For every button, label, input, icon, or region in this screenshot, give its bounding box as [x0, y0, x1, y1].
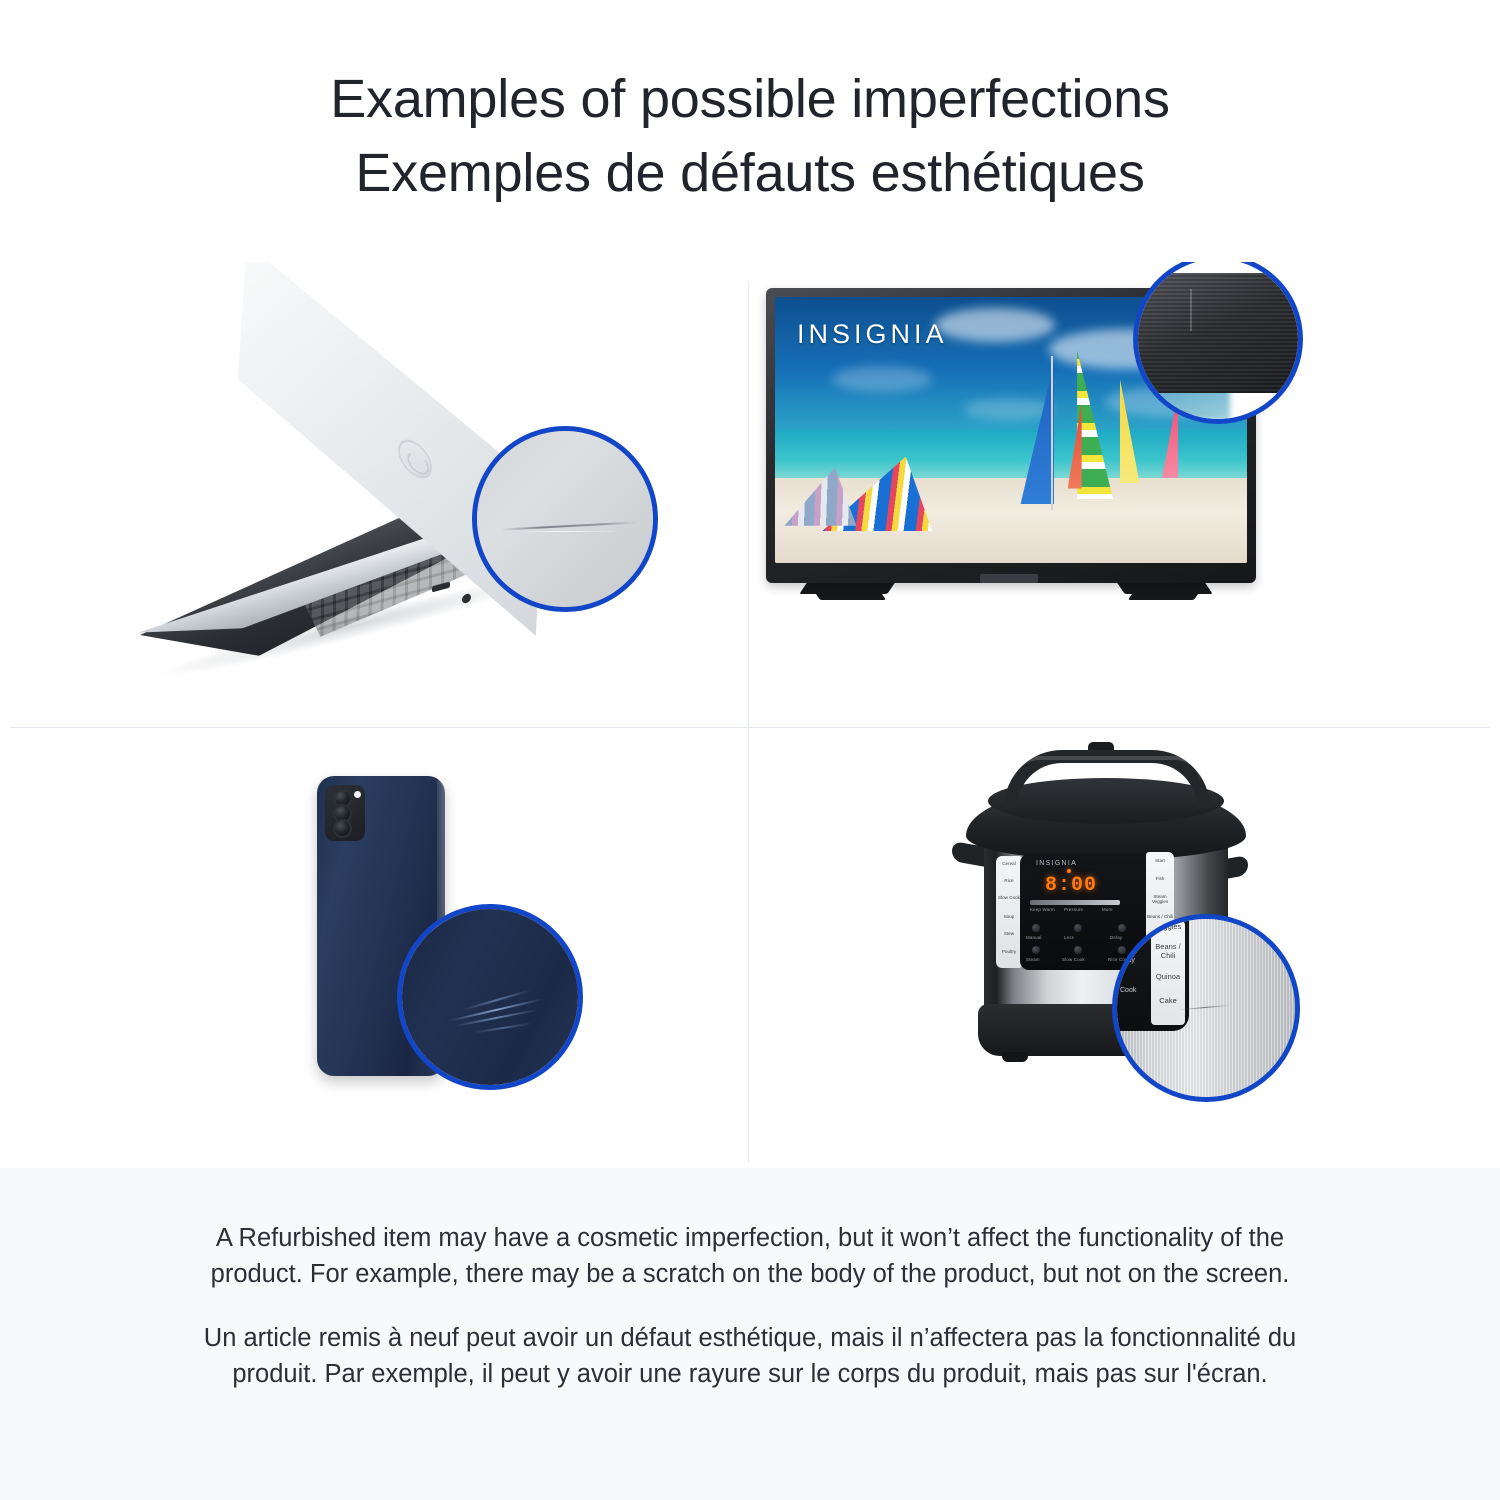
magnifier-circle-television: [1133, 262, 1303, 424]
magnifier-circle-smartphone: [397, 904, 583, 1090]
cooker-foot: [1002, 1052, 1028, 1062]
smartphone-illustration: [0, 728, 748, 1193]
cooker-led-display: 8:00: [1042, 874, 1100, 896]
cooker-button-label[interactable]: Soup: [996, 914, 1022, 919]
cooker-button-label[interactable]: Poultry: [996, 949, 1022, 954]
example-cell-television: INSIGNIA: [752, 262, 1500, 727]
tv-stand-left-foot: [812, 588, 886, 600]
cooker-panel-row2-label: Slow Cook: [1062, 957, 1085, 962]
laptop-scratch-highlight: [511, 531, 621, 532]
cooker-subtitle-more: More: [1102, 907, 1113, 912]
laptop-illustration: [0, 262, 748, 727]
example-cell-pressure-cooker: Cereal Rice Slow Cook Soup Stew Poultry …: [752, 728, 1500, 1193]
disclaimer-paragraph-en: A Refurbished item may have a cosmetic i…: [180, 1220, 1320, 1292]
cooker-closeup-button-label[interactable]: Beans / Chili: [1151, 943, 1185, 960]
cooker-progress-bar: [1030, 900, 1120, 905]
cooker-handle-highlight: [1014, 756, 1200, 782]
cooker-panel-row1-label: Less: [1064, 935, 1074, 940]
page-title-en: Examples of possible imperfections: [330, 62, 1170, 136]
cooker-closeup-button-label[interactable]: Quinoa: [1151, 973, 1185, 982]
refurbished-imperfections-infographic: Examples of possible imperfections Exemp…: [0, 0, 1500, 1500]
magnifier-circle-pressure-cooker: Delay w Cook Veggies Beans / Chili Quino…: [1112, 914, 1300, 1102]
disclaimer-paragraph-fr: Un article remis à neuf peut avoir un dé…: [180, 1320, 1320, 1392]
page-header: Examples of possible imperfections Exemp…: [0, 0, 1500, 262]
page-title-fr: Exemples de défauts esthétiques: [355, 136, 1144, 210]
cloud-shape: [935, 308, 1055, 342]
tv-brand-logo: INSIGNIA: [797, 319, 948, 350]
cooker-panel-row1-label: Manual: [1026, 935, 1042, 940]
cooker-button-label[interactable]: Rice: [996, 878, 1022, 883]
example-cell-laptop: [0, 262, 748, 727]
grid-divider-vertical: [748, 282, 749, 1162]
examples-grid: INSIGNIA: [0, 262, 1500, 1168]
cooker-left-button-column[interactable]: Cereal Rice Slow Cook Soup Stew Poultry: [996, 856, 1022, 968]
cooker-brand-label: INSIGNIA: [1036, 860, 1077, 867]
laptop-lid-closeup-surface: [472, 426, 658, 612]
sail-striped: [1077, 350, 1113, 499]
cooker-subtitle-keepwarm: Keep Warm: [1030, 907, 1055, 912]
magnifier-circle-laptop: [472, 426, 658, 612]
phone-camera-module-icon: [325, 785, 365, 841]
cloud-shape: [832, 366, 932, 392]
phone-backpanel-closeup: [397, 904, 583, 1090]
cooker-status-indicator: [1067, 869, 1071, 873]
sail-mast: [1051, 356, 1053, 510]
cooker-panel-button[interactable]: [1032, 924, 1040, 932]
cooker-button-label[interactable]: Steam Veggies: [1146, 894, 1174, 905]
tv-closeup-bezel-seam: [1190, 289, 1192, 331]
cooker-panel-button[interactable]: [1074, 946, 1082, 954]
cooker-closeup-button-label[interactable]: Veggies: [1151, 923, 1185, 932]
cooker-closeup-button-label[interactable]: Cake: [1151, 997, 1185, 1006]
cooker-panel-row2-label: Steam: [1026, 957, 1040, 962]
cooker-button-label[interactable]: Stew: [996, 931, 1022, 936]
pressure-cooker-illustration: Cereal Rice Slow Cook Soup Stew Poultry …: [752, 728, 1500, 1193]
camera-lens-icon: [333, 819, 352, 838]
cooker-closeup-dark-label: Delay: [1117, 957, 1135, 964]
cooker-panel-button[interactable]: [1032, 946, 1040, 954]
television-illustration: INSIGNIA: [752, 262, 1500, 727]
cooker-subtitle-pressure: Pressure: [1064, 907, 1083, 912]
tv-closeup-bezel-corner: [1133, 273, 1303, 393]
cooker-button-label[interactable]: Fish: [1146, 876, 1174, 881]
cooker-button-label[interactable]: Start: [1146, 858, 1174, 863]
cooker-button-label[interactable]: Slow Cook: [996, 895, 1022, 900]
tv-logo-bar: [980, 574, 1038, 583]
cooker-closeup-dark-label: w Cook: [1113, 987, 1136, 994]
camera-flash-icon: [354, 791, 361, 798]
cloud-shape: [964, 398, 1054, 420]
cooker-panel-button[interactable]: [1074, 924, 1082, 932]
cooker-button-label[interactable]: Cereal: [996, 861, 1022, 866]
example-cell-smartphone: [0, 728, 748, 1193]
tv-stand-right-foot: [1128, 588, 1202, 600]
footer-disclaimer: A Refurbished item may have a cosmetic i…: [0, 1168, 1500, 1500]
